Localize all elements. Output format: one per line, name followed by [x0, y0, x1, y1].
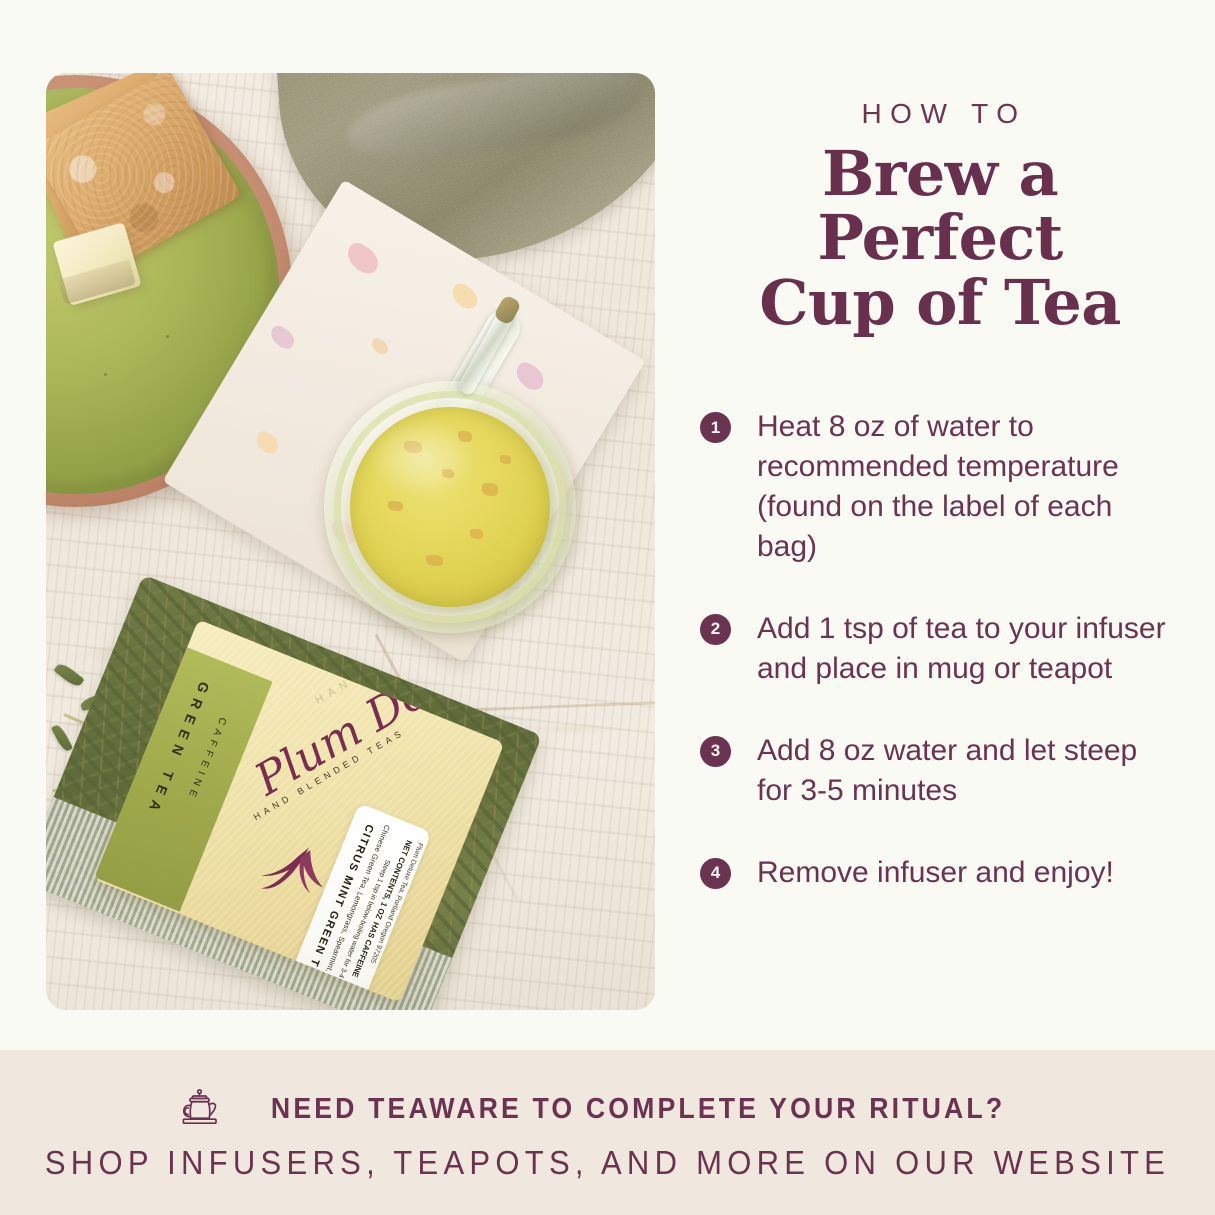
- teapot-icon: [177, 1088, 223, 1130]
- step-text: Remove infuser and enjoy!: [757, 853, 1114, 893]
- step-text: Add 8 oz water and let steep for 3-5 min…: [757, 731, 1180, 811]
- step-number-badge: 1: [700, 412, 731, 443]
- list-item: 4 Remove infuser and enjoy!: [700, 853, 1180, 893]
- instructions-panel: HOW TO Brew a Perfect Cup of Tea 1 Heat …: [700, 98, 1180, 934]
- tea-surface-highlight: [368, 419, 476, 497]
- page-title: Brew a Perfect Cup of Tea: [700, 142, 1180, 335]
- list-item: 2 Add 1 tsp of tea to your infuser and p…: [700, 609, 1180, 689]
- eyebrow-label: HOW TO: [700, 98, 1180, 130]
- banner-line-1: NEED TEAWARE TO COMPLETE YOUR RITUAL?: [271, 1093, 1005, 1126]
- step-text: Add 1 tsp of tea to your infuser and pla…: [757, 609, 1180, 689]
- product-photo: GREEN TEA CAFFEINE HAND BLENDED · SMALL …: [46, 73, 655, 1010]
- headline-line-1: Brew a Perfect: [817, 137, 1062, 274]
- step-number-badge: 4: [700, 858, 731, 889]
- call-to-action-banner[interactable]: NEED TEAWARE TO COMPLETE YOUR RITUAL? SH…: [0, 1050, 1215, 1215]
- list-item: 1 Heat 8 oz of water to recommended temp…: [700, 407, 1180, 567]
- step-text: Heat 8 oz of water to recommended temper…: [757, 407, 1180, 567]
- step-number-badge: 2: [700, 614, 731, 645]
- steps-list: 1 Heat 8 oz of water to recommended temp…: [700, 407, 1180, 892]
- list-item: 3 Add 8 oz water and let steep for 3-5 m…: [700, 731, 1180, 811]
- plate-speck: [166, 335, 169, 338]
- plate-speck: [104, 373, 107, 376]
- headline-line-2: Cup of Tea: [759, 266, 1121, 339]
- banner-headline-row: NEED TEAWARE TO COMPLETE YOUR RITUAL?: [0, 1088, 1215, 1130]
- banner-line-2: SHOP INFUSERS, TEAPOTS, AND MORE ON OUR …: [36, 1144, 1178, 1182]
- step-number-badge: 3: [700, 736, 731, 767]
